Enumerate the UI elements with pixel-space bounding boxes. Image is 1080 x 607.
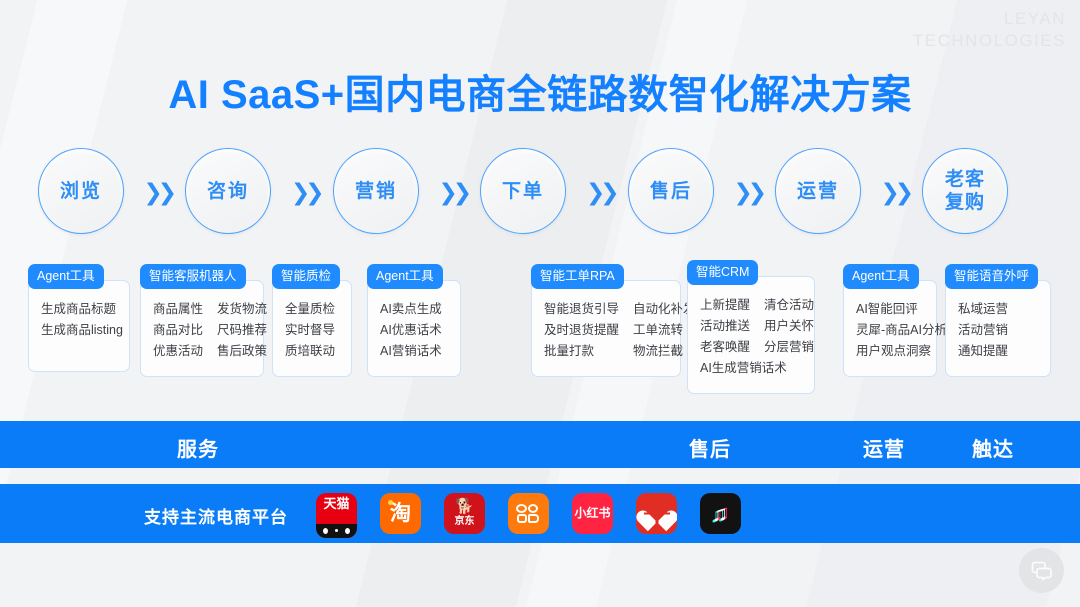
card-item: 发货物流 xyxy=(217,299,267,320)
card-column: 智能退货引导及时退货提醒批量打款 xyxy=(544,299,619,362)
card-tag[interactable]: 智能语音外呼 xyxy=(945,264,1038,289)
joy-dog-icon: 🐕 xyxy=(455,499,474,514)
card-item: 生成商品listing xyxy=(41,320,123,341)
card-body: 商品属性商品对比优惠活动发货物流尺码推荐售后政策 xyxy=(140,280,264,377)
card-item: AI卖点生成 xyxy=(380,299,442,320)
card-body: AI智能回评灵犀-商品AI分析用户观点洞察 xyxy=(843,280,937,377)
journey-step-label: 老客 复购 xyxy=(945,168,985,214)
card-column: 上新提醒活动推送老客唤醒 xyxy=(700,295,750,358)
card-column: 清仓活动用户关怀分层营销 xyxy=(764,295,814,358)
capability-card: 智能质检全量质检实时督导质培联动 xyxy=(272,264,352,377)
journey-step-label: 浏览 xyxy=(60,180,102,203)
platform-logo-label: 小红书 xyxy=(574,507,610,520)
journey-step-label: 售后 xyxy=(650,180,692,203)
card-column: 商品属性商品对比优惠活动 xyxy=(153,299,203,362)
flow-arrow-icon: ❯❯ xyxy=(439,180,461,204)
card-item: 批量打款 xyxy=(544,341,619,362)
platform-logo-dy[interactable]: ♫♫♫ xyxy=(700,493,741,534)
card-item: 活动营销 xyxy=(958,320,1008,341)
platform-bar: 支持主流电商平台 天猫淘🐕京东小红书♫♫♫ xyxy=(0,484,1080,543)
card-column: 生成商品标题生成商品listing xyxy=(41,299,123,341)
card-column: AI卖点生成AI优惠话术AI营销话术 xyxy=(380,299,442,362)
card-body: 上新提醒活动推送老客唤醒清仓活动用户关怀分层营销AI生成营销话术 xyxy=(687,276,815,394)
card-tag[interactable]: 智能客服机器人 xyxy=(140,264,246,289)
page-title: AI SaaS+国内电商全链路数智化解决方案 xyxy=(0,62,1080,120)
journey-step-label: 下单 xyxy=(502,180,544,203)
card-item: 全量质检 xyxy=(285,299,335,320)
heart-icon xyxy=(644,502,670,525)
music-note-icon: ♫♫♫ xyxy=(710,502,732,526)
card-item: 质培联动 xyxy=(285,341,335,362)
card-tag[interactable]: Agent工具 xyxy=(367,264,443,289)
capability-card: 智能客服机器人商品属性商品对比优惠活动发货物流尺码推荐售后政策 xyxy=(140,264,264,377)
platform-logo-ks[interactable] xyxy=(508,493,549,534)
flow-arrow-icon: ❯❯ xyxy=(734,180,756,204)
capability-card: Agent工具生成商品标题生成商品listing xyxy=(28,264,130,372)
card-columns: 私域运营活动营销通知提醒 xyxy=(958,299,1038,362)
card-column: 私域运营活动营销通知提醒 xyxy=(958,299,1008,362)
journey-step-label: 运营 xyxy=(797,180,839,203)
card-body: 私域运营活动营销通知提醒 xyxy=(945,280,1051,377)
card-tag[interactable]: Agent工具 xyxy=(843,264,919,289)
flow-arrow-icon: ❯❯ xyxy=(144,180,166,204)
card-item: 商品属性 xyxy=(153,299,203,320)
capability-card: Agent工具AI智能回评灵犀-商品AI分析用户观点洞察 xyxy=(843,264,937,377)
card-item: 通知提醒 xyxy=(958,341,1008,362)
platform-logo-label: 淘 xyxy=(390,507,411,520)
platform-logo-label: 天猫 xyxy=(323,497,349,510)
card-columns: 生成商品标题生成商品listing xyxy=(41,299,117,341)
flow-arrow-icon: ❯❯ xyxy=(291,180,313,204)
flow-arrow-icon: ❯❯ xyxy=(881,180,903,204)
card-item: 清仓活动 xyxy=(764,295,814,316)
stage-bar-label: 运营 xyxy=(863,433,905,462)
brand-watermark: LEYAN TECHNOLOGIES xyxy=(913,8,1066,52)
stage-bar-label: 售后 xyxy=(689,433,731,462)
card-item: 用户观点洞察 xyxy=(856,341,947,362)
card-body: 全量质检实时督导质培联动 xyxy=(272,280,352,377)
chat-button[interactable] xyxy=(1019,548,1064,593)
stage-bar-label: 服务 xyxy=(177,433,219,462)
card-tag[interactable]: 智能CRM xyxy=(687,260,758,285)
card-item: 售后政策 xyxy=(217,341,267,362)
card-item: 优惠活动 xyxy=(153,341,203,362)
card-body: AI卖点生成AI优惠话术AI营销话术 xyxy=(367,280,461,377)
card-item: 尺码推荐 xyxy=(217,320,267,341)
stage-bar-label: 触达 xyxy=(972,433,1014,462)
card-item: AI营销话术 xyxy=(380,341,442,362)
card-item: 活动推送 xyxy=(700,316,750,337)
platform-logo-xhs[interactable]: 小红书 xyxy=(572,493,613,534)
card-columns: 智能退货引导及时退货提醒批量打款自动化补发工单流转物流拦截 xyxy=(544,299,668,362)
card-item: 商品对比 xyxy=(153,320,203,341)
card-item: 用户关怀 xyxy=(764,316,814,337)
platform-logo-pdd[interactable] xyxy=(636,493,677,534)
card-columns: 商品属性商品对比优惠活动发货物流尺码推荐售后政策 xyxy=(153,299,251,362)
journey-step-label: 营销 xyxy=(355,180,397,203)
sparkle-icon xyxy=(388,500,393,505)
card-body: 生成商品标题生成商品listing xyxy=(28,280,130,372)
chat-bubble-icon xyxy=(1030,559,1054,583)
card-column: 发货物流尺码推荐售后政策 xyxy=(217,299,267,362)
card-columns: 上新提醒活动推送老客唤醒清仓活动用户关怀分层营销 xyxy=(700,295,802,358)
capability-card: 智能工单RPA智能退货引导及时退货提醒批量打款自动化补发工单流转物流拦截 xyxy=(531,264,681,377)
cat-nose-icon xyxy=(335,529,338,532)
card-item: 及时退货提醒 xyxy=(544,320,619,341)
journey-step-3[interactable]: 营销 xyxy=(333,148,419,234)
card-item: 实时督导 xyxy=(285,320,335,341)
capability-card: 智能CRM上新提醒活动推送老客唤醒清仓活动用户关怀分层营销AI生成营销话术 xyxy=(687,260,815,394)
platform-logo-taobao[interactable]: 淘 xyxy=(380,493,421,534)
journey-step-6[interactable]: 运营 xyxy=(775,148,861,234)
journey-step-label: 咨询 xyxy=(207,180,249,203)
card-columns: 全量质检实时督导质培联动 xyxy=(285,299,339,362)
card-item: 上新提醒 xyxy=(700,295,750,316)
platform-logo-tmall[interactable]: 天猫 xyxy=(316,493,357,538)
capability-card: Agent工具AI卖点生成AI优惠话术AI营销话术 xyxy=(367,264,461,377)
card-tag[interactable]: 智能质检 xyxy=(272,264,340,289)
stage-summary-bar: 服务售后运营触达 xyxy=(0,421,1080,468)
card-item: 生成商品标题 xyxy=(41,299,123,320)
journey-step-7[interactable]: 老客 复购 xyxy=(922,148,1008,234)
card-body: 智能退货引导及时退货提醒批量打款自动化补发工单流转物流拦截 xyxy=(531,280,681,377)
card-tag[interactable]: Agent工具 xyxy=(28,264,104,289)
kuaishou-glyph-icon xyxy=(516,504,542,524)
card-item: 老客唤醒 xyxy=(700,337,750,358)
journey-step-1[interactable]: 浏览 xyxy=(38,148,124,234)
card-column: AI智能回评灵犀-商品AI分析用户观点洞察 xyxy=(856,299,947,362)
card-columns: AI卖点生成AI优惠话术AI营销话术 xyxy=(380,299,448,362)
slide-canvas: LEYAN TECHNOLOGIES AI SaaS+国内电商全链路数智化解决方… xyxy=(0,0,1080,607)
journey-step-4[interactable]: 下单 xyxy=(480,148,566,234)
journey-step-5[interactable]: 售后 xyxy=(628,148,714,234)
flow-arrow-icon: ❯❯ xyxy=(586,180,608,204)
platform-logo-label: 京东 xyxy=(455,515,475,528)
card-item: 私域运营 xyxy=(958,299,1008,320)
card-item: AI优惠话术 xyxy=(380,320,442,341)
card-tag[interactable]: 智能工单RPA xyxy=(531,264,624,289)
watermark-line-2: TECHNOLOGIES xyxy=(913,30,1066,52)
card-column: 全量质检实时督导质培联动 xyxy=(285,299,335,362)
journey-flow: 浏览❯❯咨询❯❯营销❯❯下单❯❯售后❯❯运营❯❯老客 复购 xyxy=(0,148,1080,240)
card-item: 智能退货引导 xyxy=(544,299,619,320)
watermark-line-1: LEYAN xyxy=(913,8,1066,30)
card-item: 分层营销 xyxy=(764,337,814,358)
card-item: AI智能回评 xyxy=(856,299,947,320)
card-item: AI生成营销话术 xyxy=(700,358,802,379)
card-columns: AI智能回评灵犀-商品AI分析用户观点洞察 xyxy=(856,299,924,362)
card-item: 灵犀-商品AI分析 xyxy=(856,320,947,341)
journey-step-2[interactable]: 咨询 xyxy=(185,148,271,234)
platform-logo-jd[interactable]: 🐕京东 xyxy=(444,493,485,534)
capability-card: 智能语音外呼私域运营活动营销通知提醒 xyxy=(945,264,1051,377)
platform-bar-caption: 支持主流电商平台 xyxy=(144,503,288,528)
